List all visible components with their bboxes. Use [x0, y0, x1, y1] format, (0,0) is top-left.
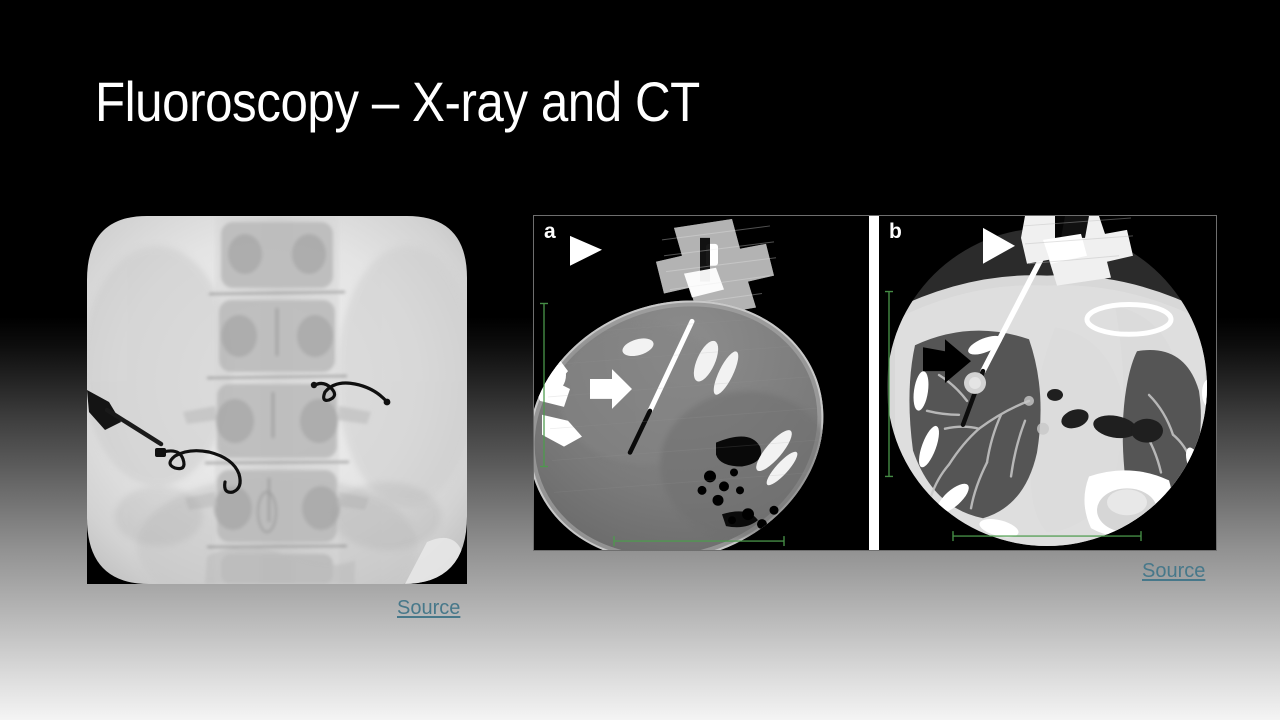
- ct-source-link[interactable]: Source: [1142, 560, 1205, 583]
- slide-canvas: Fluoroscopy – X-ray and CT: [0, 0, 1280, 720]
- fluoroscopy-xray-image: [87, 216, 467, 584]
- ct-panel-a: a: [534, 216, 869, 550]
- xray-source-link[interactable]: Source: [397, 597, 460, 620]
- page-title: Fluoroscopy – X-ray and CT: [95, 70, 700, 134]
- ct-figure: a: [533, 215, 1217, 551]
- ct-panel-divider: [869, 216, 879, 550]
- ct-panel-b: b: [879, 216, 1216, 550]
